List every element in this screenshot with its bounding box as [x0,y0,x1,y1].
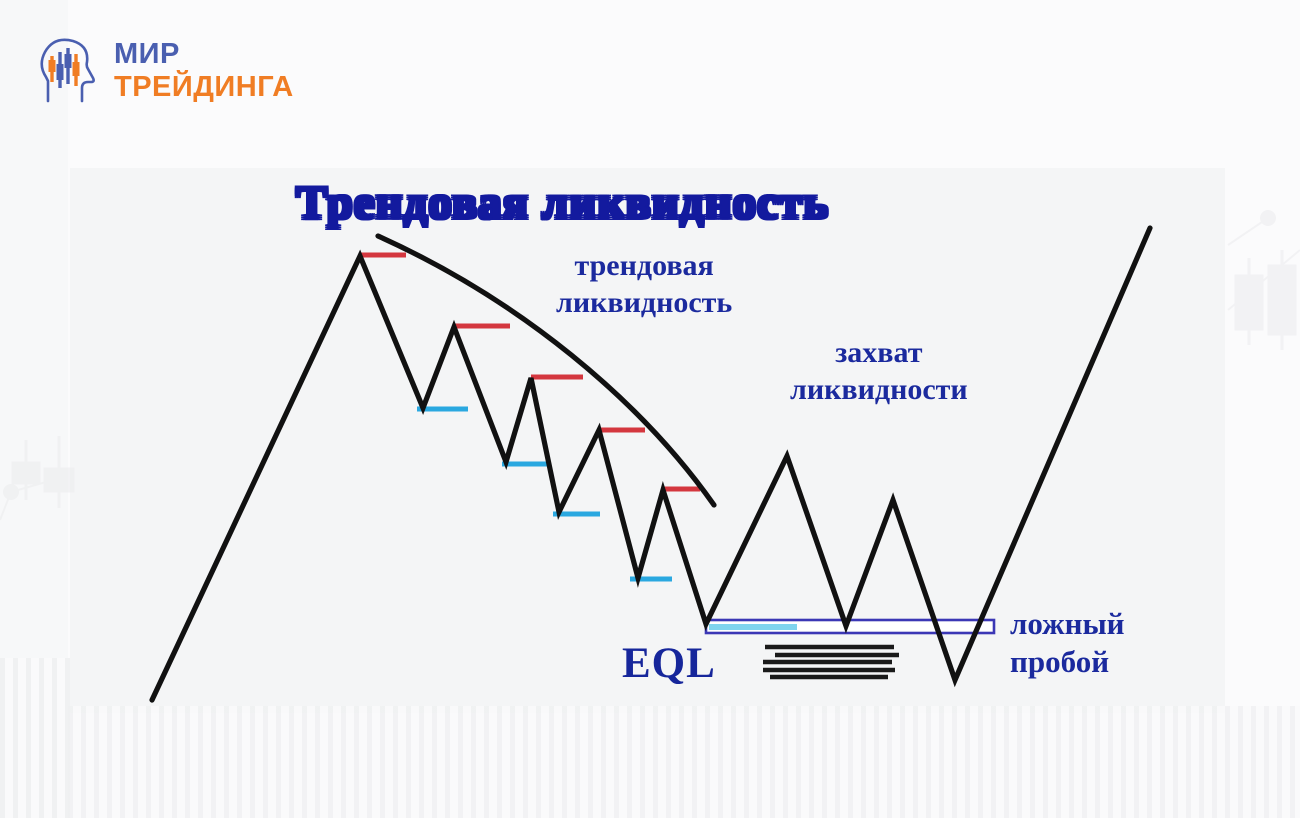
annotation-false-breakout: ложный пробой [1010,605,1125,681]
infographic-canvas: МИР ТРЕЙДИНГА Трендовая ликвидность трен… [0,0,1300,818]
eql-label: EQL [622,638,716,690]
annotation-trend-liquidity: трендовая ликвидность [556,248,732,321]
price-action-chart [0,0,1300,818]
eql-hatch-lines [763,647,899,677]
annotation-liquidity-grab: захват ликвидности [790,335,968,408]
annotation-false-breakout-line1: ложный [1010,605,1125,643]
annotation-trend-liquidity-line2: ликвидность [556,285,732,322]
eql-zone-highlight [709,624,797,630]
annotation-liquidity-grab-line1: захват [790,335,968,372]
annotation-trend-liquidity-line1: трендовая [556,248,732,285]
annotation-liquidity-grab-line2: ликвидности [790,372,968,409]
annotation-false-breakout-line2: пробой [1010,643,1125,681]
